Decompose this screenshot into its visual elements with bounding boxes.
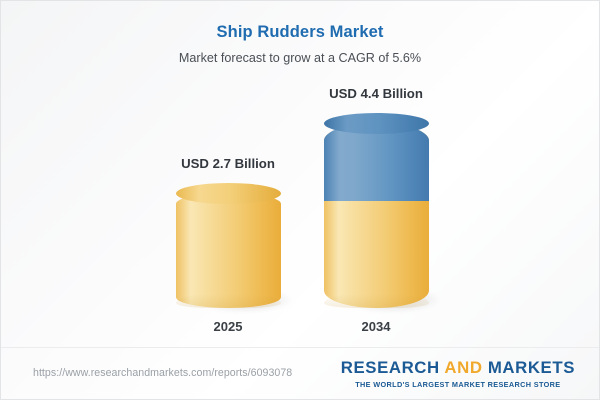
axis-label-2034: 2034 [296,319,456,334]
bar-value-label-2025: USD 2.7 Billion [148,156,308,171]
cylinder-body-gold [176,193,281,308]
report-url-link[interactable]: https://www.researchandmarkets.com/repor… [33,367,292,379]
cylinder-body-gold [324,123,429,308]
brand-name: RESEARCH AND MARKETS [341,358,575,378]
footer-bar: https://www.researchandmarkets.com/repor… [1,347,600,399]
bar-value-label-2034: USD 4.4 Billion [296,86,456,101]
chart-subtitle: Market forecast to grow at a CAGR of 5.6… [1,51,599,65]
infographic-card: Ship Rudders Market Market forecast to g… [0,0,600,400]
brand-name-part2: MARKETS [483,358,575,377]
brand-tagline: THE WORLD'S LARGEST MARKET RESEARCH STOR… [341,380,575,389]
cylinder-top-cap-blue [324,113,429,134]
cylinder-bar-2034[interactable] [324,123,429,308]
chart-header: Ship Rudders Market Market forecast to g… [1,1,599,65]
cylinder-top-cap-gold [176,183,281,204]
cylinder-segment-blue [324,123,429,201]
axis-label-2025: 2025 [148,319,308,334]
brand-name-part1: RESEARCH [341,358,445,377]
chart-plot-area: USD 2.7 Billion 2025 USD 4.4 Billion [1,81,600,343]
bar-group-2034: USD 4.4 Billion 2034 [296,81,456,343]
page-title: Ship Rudders Market [1,23,599,42]
cylinder-bar-2025[interactable] [176,193,281,308]
bar-group-2025: USD 2.7 Billion 2025 [148,81,308,343]
brand-logo[interactable]: RESEARCH AND MARKETS THE WORLD'S LARGEST… [341,358,575,389]
brand-name-and: AND [444,358,482,377]
